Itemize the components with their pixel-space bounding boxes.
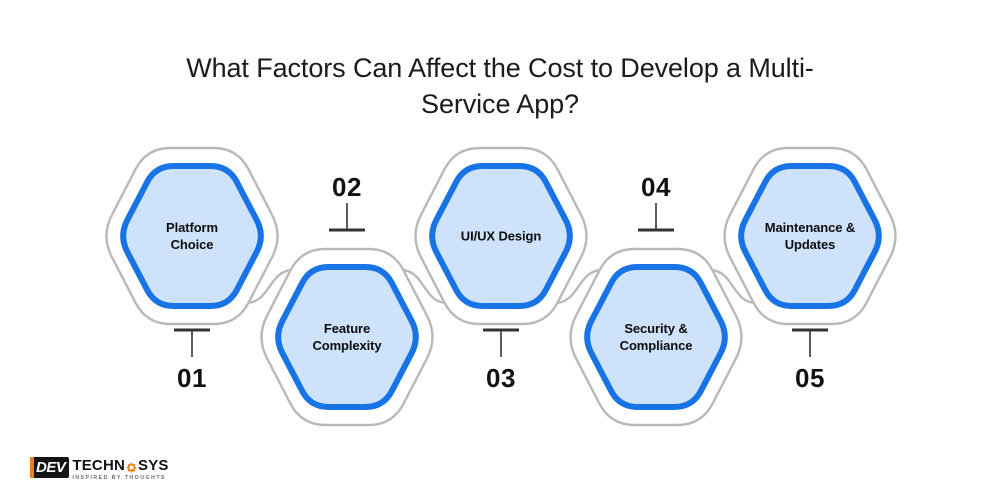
logo-tagline: INSPIRED BY THOUGHTS [72,474,168,482]
hex-label-2: Feature Complexity [277,320,417,354]
infographic-canvas: What Factors Can Affect the Cost to Deve… [0,0,1000,500]
step-tick-1 [174,330,210,357]
hex-label-4: Security & Compliance [586,320,726,354]
hex-label-line: Feature [277,320,417,337]
step-tick-2 [329,203,365,230]
gear-icon [126,460,137,471]
step-number-4: 04 [641,172,671,203]
step-number-3: 03 [486,363,516,394]
logo-name-part1: TECHN [72,457,125,474]
step-number-5: 05 [795,363,825,394]
hex-label-line: Security & [586,320,726,337]
hex-label-3: UI/UX Design [431,228,571,245]
step-tick-3 [483,330,519,357]
hex-label-line: UI/UX Design [431,228,571,245]
hex-label-line: Complexity [277,337,417,354]
hex-label-line: Compliance [586,337,726,354]
hex-label-line: Maintenance & [740,219,880,236]
hex-label-1: Platform Choice [122,219,262,253]
logo-dev-mark: DEV [30,457,69,478]
step-number-1: 01 [177,363,207,394]
step-number-2: 02 [332,172,362,203]
hex-label-line: Platform [122,219,262,236]
hex-label-5: Maintenance & Updates [740,219,880,253]
logo-name-part2: SYS [138,457,169,474]
devtechnosys-logo: DEV TECHN SYS INSPIRED BY THOUGHTS [30,457,169,485]
step-tick-4 [638,203,674,230]
hex-label-line: Choice [122,236,262,253]
logo-company-name: TECHN SYS [72,457,168,474]
hex-label-line: Updates [740,236,880,253]
logo-wordmark: TECHN SYS INSPIRED BY THOUGHTS [72,457,168,482]
step-tick-5 [792,330,828,357]
logo-dev-text: DEV [36,459,65,476]
